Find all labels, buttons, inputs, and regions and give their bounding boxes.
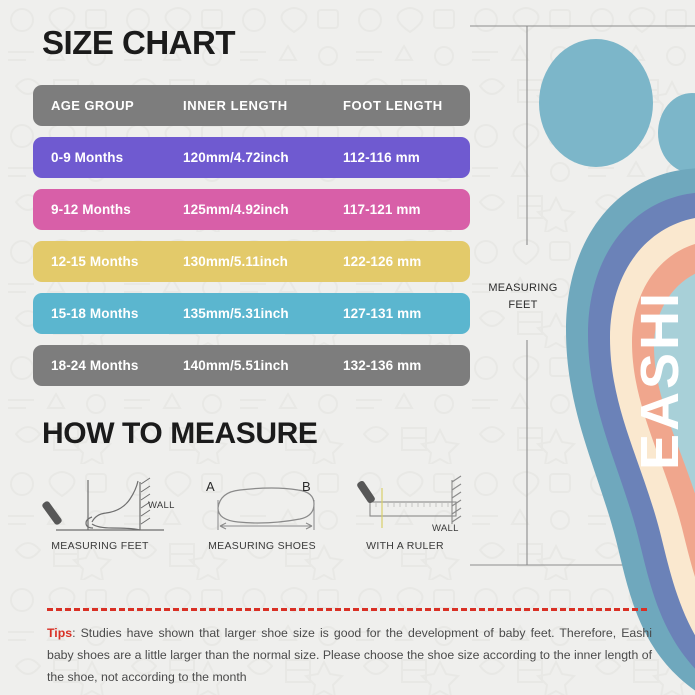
size-chart-table: AGE GROUP INNER LENGTH FOOT LENGTH 0-9 M… — [33, 85, 470, 397]
measuring-feet-line1: MEASURING — [487, 280, 559, 297]
measuring-feet-line2: FEET — [487, 297, 559, 314]
pencil-icon — [356, 480, 376, 504]
cell-age-group: 9-12 Months — [33, 202, 183, 217]
cell-foot-length: 127-131 mm — [343, 306, 470, 321]
table-row: 15-18 Months 135mm/5.31inch 127-131 mm — [33, 293, 470, 334]
cell-inner-length: 125mm/4.92inch — [183, 202, 343, 217]
diagram-caption-measuring-feet: MEASURING FEET — [40, 540, 160, 552]
tips-label: Tips — [47, 626, 72, 640]
section-title-how-to-measure: HOW TO MEASURE — [42, 417, 318, 451]
size-chart-page: SIZE CHART AGE GROUP INNER LENGTH FOOT L… — [0, 0, 695, 695]
column-header-foot-length: FOOT LENGTH — [343, 98, 470, 113]
cell-inner-length: 120mm/4.72inch — [183, 150, 343, 165]
cell-inner-length: 130mm/5.11inch — [183, 254, 343, 269]
big-toe-shape — [539, 39, 653, 167]
second-toe-shape — [658, 93, 695, 173]
brand-wordmark: EASHI — [630, 290, 690, 470]
table-row: 9-12 Months 125mm/4.92inch 117-121 mm — [33, 189, 470, 230]
tips-divider — [47, 608, 647, 611]
tips-separator: : — [72, 626, 75, 640]
pencil-icon — [41, 500, 63, 526]
table-row: 18-24 Months 140mm/5.51inch 132-136 mm — [33, 345, 470, 386]
cell-foot-length: 112-116 mm — [343, 150, 470, 165]
cell-age-group: 0-9 Months — [33, 150, 183, 165]
cell-foot-length: 122-126 mm — [343, 254, 470, 269]
cell-inner-length: 140mm/5.51inch — [183, 358, 343, 373]
measuring-feet-caption: MEASURING FEET — [487, 280, 559, 314]
table-row: 0-9 Months 120mm/4.72inch 112-116 mm — [33, 137, 470, 178]
cell-inner-length: 135mm/5.31inch — [183, 306, 343, 321]
column-header-age-group: AGE GROUP — [33, 98, 183, 113]
cell-age-group: 12-15 Months — [33, 254, 183, 269]
tips-text: Studies have shown that larger shoe size… — [47, 626, 652, 684]
tips-block: Tips: Studies have shown that larger sho… — [47, 622, 652, 688]
column-header-inner-length: INNER LENGTH — [183, 98, 343, 113]
wall-label: WALL — [432, 523, 459, 534]
table-header-row: AGE GROUP INNER LENGTH FOOT LENGTH — [33, 85, 470, 126]
table-row: 12-15 Months 130mm/5.11inch 122-126 mm — [33, 241, 470, 282]
cell-age-group: 15-18 Months — [33, 306, 183, 321]
cell-age-group: 18-24 Months — [33, 358, 183, 373]
cell-foot-length: 132-136 mm — [343, 358, 470, 373]
shoe-point-b-label: B — [302, 479, 311, 494]
cell-foot-length: 117-121 mm — [343, 202, 470, 217]
page-title: SIZE CHART — [42, 24, 235, 62]
footprint-graphic: EASHI — [470, 0, 695, 695]
diagram-caption-measuring-shoes: MEASURING SHOES — [200, 540, 324, 552]
diagram-caption-with-a-ruler: WITH A RULER — [348, 540, 462, 552]
wall-label: WALL — [148, 500, 175, 511]
